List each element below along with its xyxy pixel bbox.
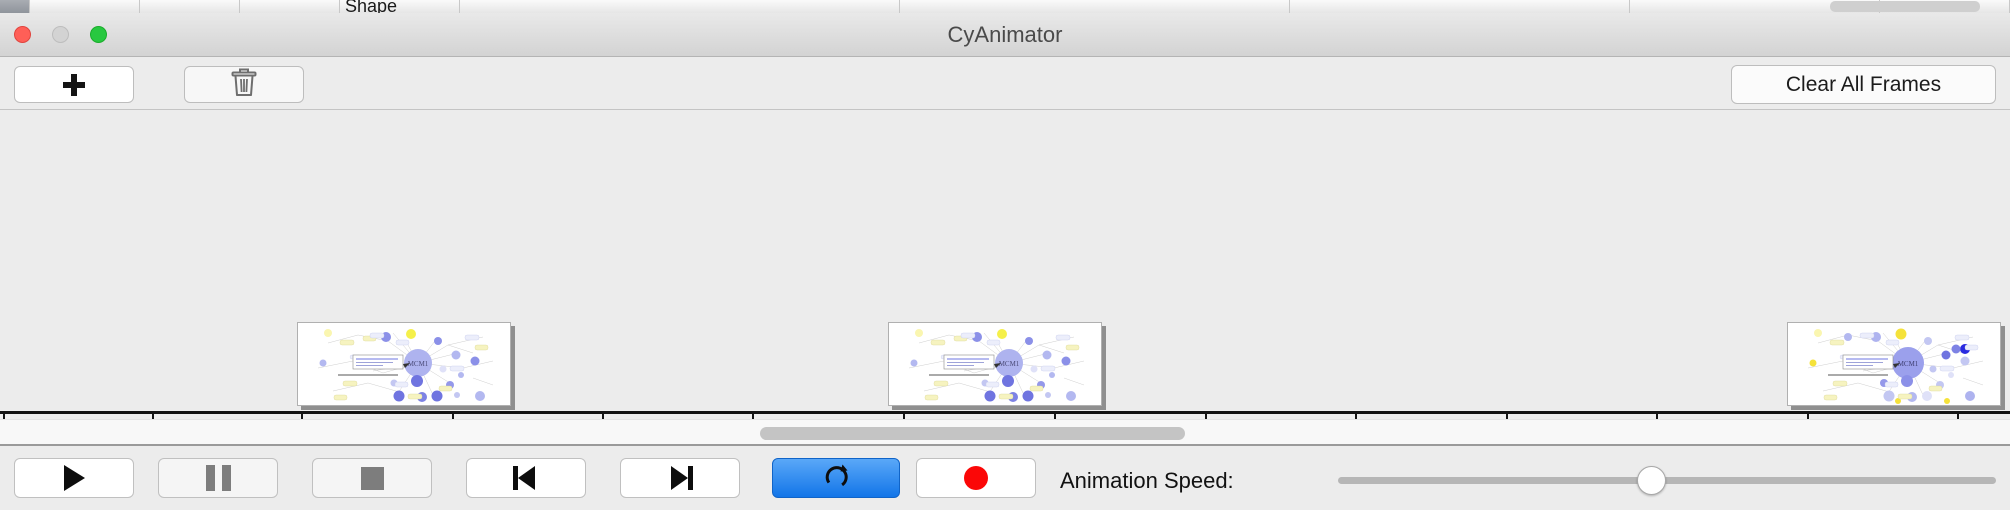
- window-title: CyAnimator: [0, 13, 2010, 57]
- loop-icon: [822, 462, 850, 495]
- timeline-frame[interactable]: MCM1: [1787, 322, 2005, 410]
- pause-button[interactable]: [158, 458, 278, 498]
- animation-speed-slider-thumb[interactable]: [1637, 466, 1666, 495]
- skip-next-icon: [667, 465, 693, 491]
- record-icon: [964, 466, 988, 490]
- delete-frame-button[interactable]: [184, 66, 304, 103]
- title-bar: CyAnimator: [0, 13, 2010, 57]
- background-window-strip: Shape: [0, 0, 2010, 13]
- play-icon: [64, 465, 85, 491]
- record-button[interactable]: [916, 458, 1036, 498]
- frame-thumbnail: MCM1: [1787, 322, 2001, 406]
- frame-thumbnail: MCM1: [888, 322, 1102, 406]
- skip-previous-icon: [513, 465, 539, 491]
- svg-text:MCM1: MCM1: [408, 360, 429, 368]
- scrollbar-thumb[interactable]: [760, 427, 1185, 440]
- stop-icon: [361, 467, 384, 490]
- toolbar: Clear All Frames: [0, 57, 2010, 110]
- timeline-scrollbar[interactable]: [0, 419, 2010, 446]
- stop-button[interactable]: [312, 458, 432, 498]
- svg-text:MCM1: MCM1: [999, 360, 1020, 368]
- timeline-frame[interactable]: MCM1: [297, 322, 515, 410]
- skip-next-button[interactable]: [620, 458, 740, 498]
- loop-button[interactable]: [772, 458, 900, 498]
- background-window-label: Shape: [345, 0, 397, 13]
- skip-previous-button[interactable]: [466, 458, 586, 498]
- animation-speed-label: Animation Speed:: [1060, 468, 1234, 494]
- clear-all-frames-button[interactable]: Clear All Frames: [1731, 65, 1996, 104]
- pause-icon: [206, 465, 231, 491]
- plus-icon: [63, 74, 85, 96]
- cyanimator-window: Shape CyAnimator Clear: [0, 0, 2010, 510]
- trash-icon: [231, 67, 257, 102]
- frame-thumbnail: MCM1: [297, 322, 511, 406]
- play-button[interactable]: [14, 458, 134, 498]
- timeline-panel[interactable]: MCM1: [0, 110, 2010, 419]
- playback-controls: Animation Speed:: [0, 448, 2010, 510]
- timeline-frame[interactable]: MCM1: [888, 322, 1106, 410]
- clear-all-frames-label: Clear All Frames: [1786, 73, 1941, 97]
- add-frame-button[interactable]: [14, 66, 134, 103]
- svg-text:MCM1: MCM1: [1898, 360, 1919, 368]
- animation-speed-slider[interactable]: [1338, 477, 1996, 484]
